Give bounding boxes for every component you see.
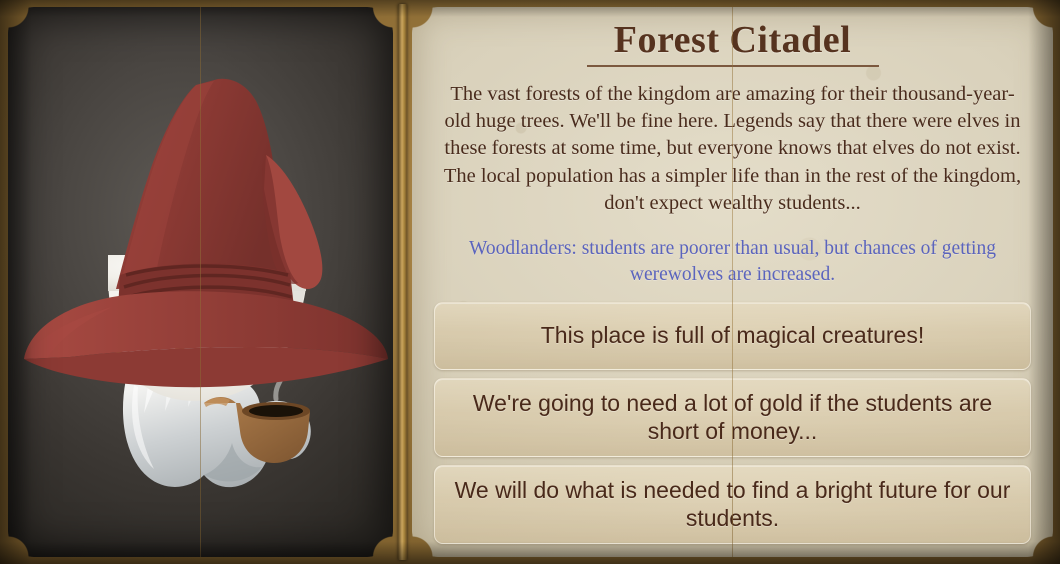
skull-wizard-portrait bbox=[8, 7, 393, 557]
character-portrait-panel bbox=[8, 7, 393, 557]
location-description: The vast forests of the kingdom are amaz… bbox=[434, 81, 1031, 217]
dialogue-screen: Forest Citadel The vast forests of the k… bbox=[0, 0, 1060, 564]
panel-divider bbox=[398, 4, 407, 560]
location-trait: Woodlanders: students are poorer than us… bbox=[434, 236, 1031, 287]
choice-option-2[interactable]: We're going to need a lot of gold if the… bbox=[434, 378, 1031, 457]
title-underline bbox=[587, 65, 879, 67]
choice-option-3[interactable]: We will do what is needed to find a brig… bbox=[434, 465, 1031, 544]
location-info-panel: Forest Citadel The vast forests of the k… bbox=[412, 7, 1053, 557]
choice-option-1[interactable]: This place is full of magical creatures! bbox=[434, 302, 1031, 370]
page-title: Forest Citadel bbox=[434, 21, 1031, 61]
wizard-hat bbox=[24, 79, 388, 388]
dialogue-choices: This place is full of magical creatures!… bbox=[434, 302, 1031, 544]
